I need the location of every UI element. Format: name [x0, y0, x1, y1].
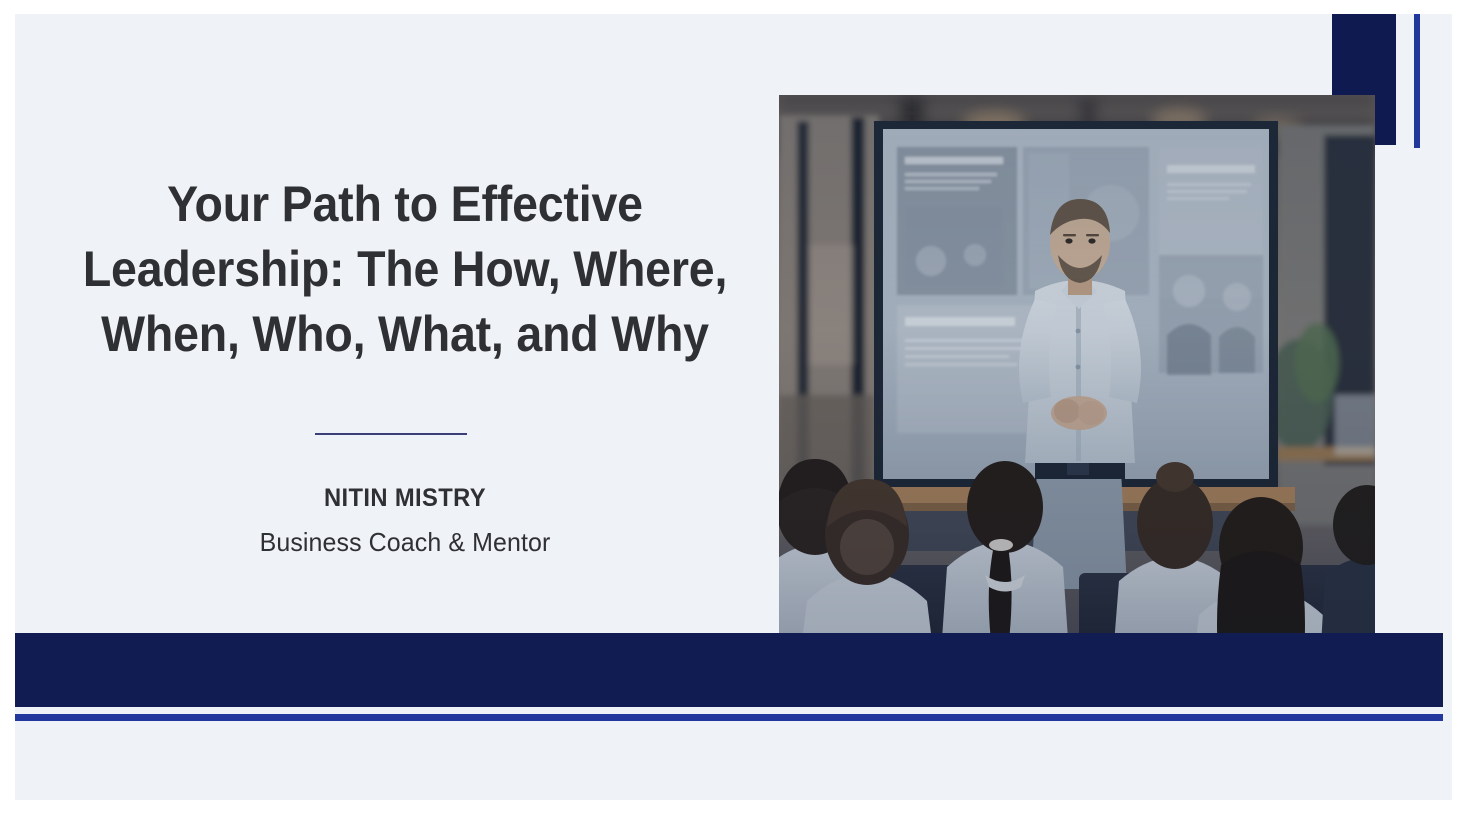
bottom-navy-band — [15, 633, 1443, 707]
title-block: Your Path to Effective Leadership: The H… — [55, 172, 755, 367]
bottom-accent-line — [15, 714, 1443, 721]
presenter-role: Business Coach & Mentor — [69, 527, 741, 558]
presenter-name: NITIN MISTRY — [73, 484, 738, 513]
presentation-photo — [779, 95, 1375, 682]
photo-illustration — [779, 95, 1375, 682]
presentation-slide: Your Path to Effective Leadership: The H… — [15, 14, 1452, 800]
divider — [315, 433, 467, 435]
top-right-accent-line — [1414, 14, 1420, 148]
byline-block: NITIN MISTRY Business Coach & Mentor — [55, 484, 755, 558]
page-title: Your Path to Effective Leadership: The H… — [80, 172, 731, 367]
